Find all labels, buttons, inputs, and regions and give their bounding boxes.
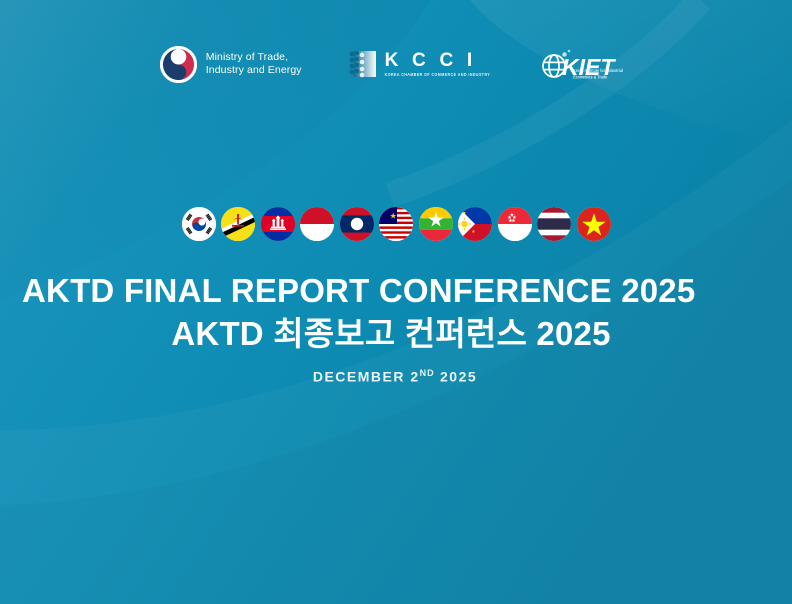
flag-cambodia-icon [261,207,295,241]
member-country-flag-row [0,207,792,241]
logo-ministry-of-trade: Ministry of Trade, Industry and Energy [160,46,302,83]
flag-brunei-icon [221,207,255,241]
conference-date: DECEMBER 2ND 2025 [0,368,792,385]
taegeuk-icon [160,46,197,83]
title-english: AKTD FINAL REPORT CONFERENCE 2025 [0,272,792,310]
kcci-mark-icon [348,49,378,79]
date-suffix: 2025 [435,369,478,385]
kcci-subtitle: KOREA CHAMBER OF COMMERCE AND INDUSTRY [385,71,491,79]
motie-line-1: Ministry of Trade, [206,51,288,63]
flag-philippines-icon [458,207,492,241]
logo-kiet: KIET Korea Institute for Industrial Econ… [536,44,632,84]
flag-myanmar-icon [419,207,453,241]
kcci-wordmark: K C C I [385,51,477,71]
conference-title-slide: Ministry of Trade, Industry and Energy [0,0,792,604]
flag-laos-icon [340,207,374,241]
flag-malaysia-icon [379,207,413,241]
flag-thailand-icon [537,207,571,241]
date-prefix: DECEMBER 2 [313,369,420,385]
motie-line-2: Industry and Energy [206,64,302,76]
title-korean: AKTD 최종보고 컨퍼런스 2025 [0,314,792,354]
logo-kcci: K C C I KOREA CHAMBER OF COMMERCE AND IN… [348,49,491,79]
date-ordinal: ND [420,368,435,378]
flag-south-korea-icon [182,207,216,241]
title-block: AKTD FINAL REPORT CONFERENCE 2025 AKTD 최… [0,272,792,385]
flag-indonesia-icon [300,207,334,241]
organizer-logo-row: Ministry of Trade, Industry and Energy [0,44,792,84]
kiet-subtitle-line-1: Korea Institute for Industrial [573,68,623,73]
logo-ministry-label: Ministry of Trade, Industry and Energy [206,51,302,77]
flag-singapore-icon [498,207,532,241]
kiet-subtitle-line-2: Economics & Trade [573,75,607,80]
kiet-subtitle: Korea Institute for Industrial Economics… [573,68,631,82]
kcci-wordmark-block: K C C I KOREA CHAMBER OF COMMERCE AND IN… [385,51,491,77]
flag-vietnam-icon [577,207,611,241]
